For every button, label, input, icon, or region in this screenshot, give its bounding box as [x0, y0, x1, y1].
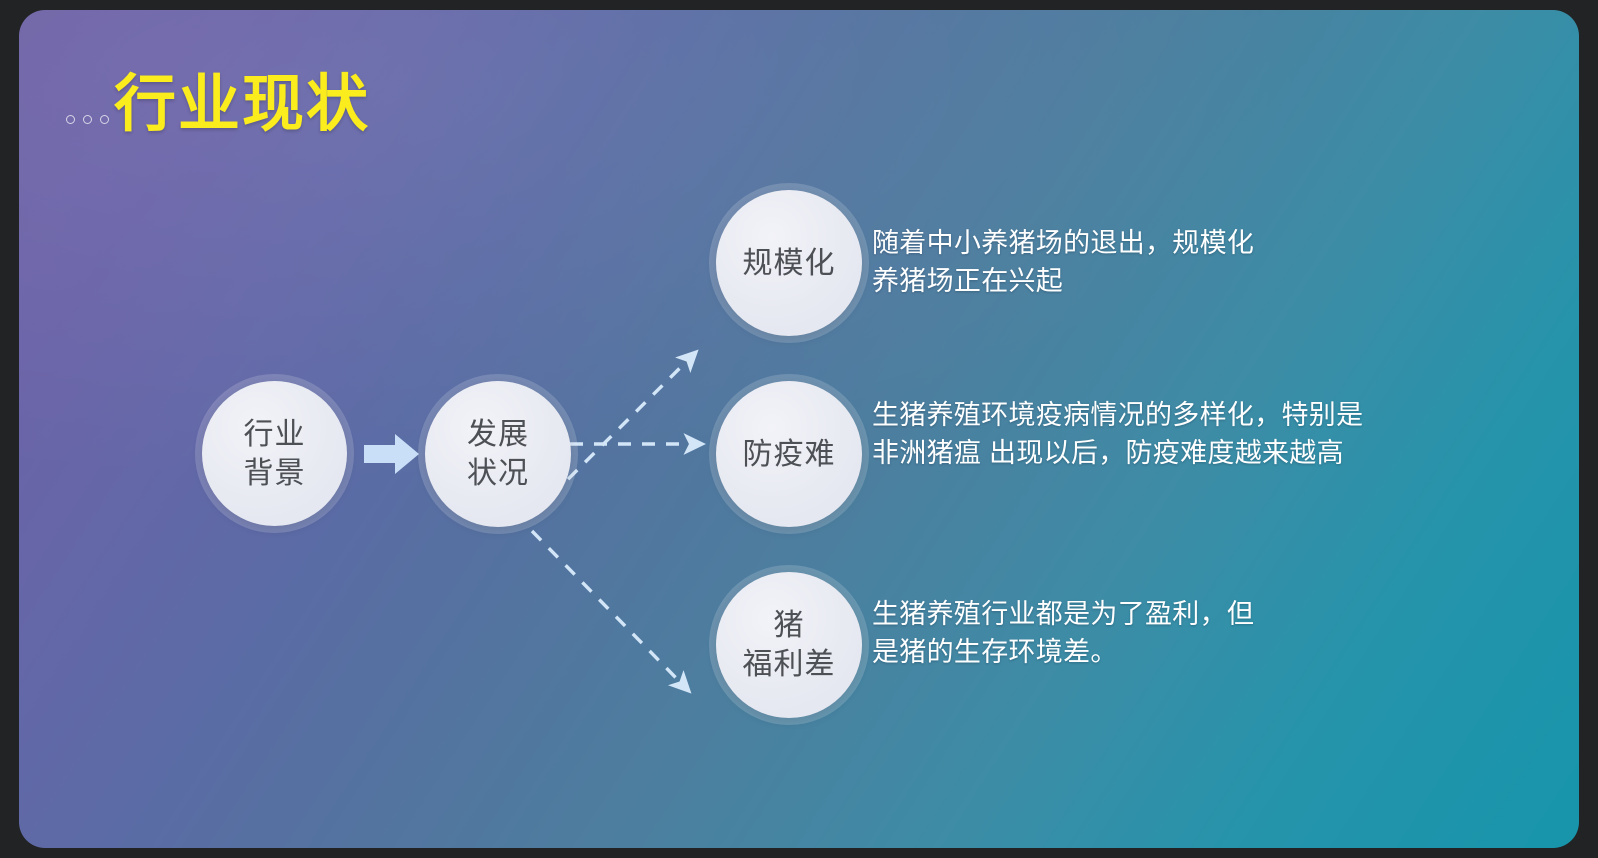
arrow-background-to-status-icon [364, 431, 419, 477]
description-epidemic-prevention: 生猪养殖环境疫病情况的多样化，特别是 非洲猪瘟 出现以后，防疫难度越来越高 [872, 396, 1552, 473]
description-scale: 随着中小养猪场的退出，规模化 养猪场正在兴起 [872, 224, 1492, 301]
page-title: 行业现状 [114, 72, 370, 137]
node-label: 猪 福利差 [743, 606, 836, 684]
connector-status-to-welfare [532, 531, 681, 683]
presentation-slide-root: 行业现状 [0, 0, 1598, 858]
decor-dot-icon-1 [66, 115, 75, 124]
node-label: 行业 背景 [244, 415, 306, 493]
node-epidemic-prevention[interactable]: 防疫难 [716, 381, 862, 527]
node-pig-welfare[interactable]: 猪 福利差 [716, 572, 862, 718]
title-decor-dots [66, 115, 109, 124]
node-development-status[interactable]: 发展 状况 [425, 381, 571, 527]
description-pig-welfare: 生猪养殖行业都是为了盈利，但 是猪的生存环境差。 [872, 595, 1492, 672]
decor-dot-icon-3 [100, 115, 109, 124]
node-label: 防疫难 [743, 435, 836, 474]
node-label: 发展 状况 [467, 415, 529, 493]
slide-canvas: 行业现状 [19, 10, 1579, 848]
node-label: 规模化 [743, 244, 836, 283]
decor-dot-icon-2 [83, 115, 92, 124]
node-scale[interactable]: 规模化 [716, 190, 862, 336]
node-industry-background[interactable]: 行业 背景 [202, 381, 347, 526]
